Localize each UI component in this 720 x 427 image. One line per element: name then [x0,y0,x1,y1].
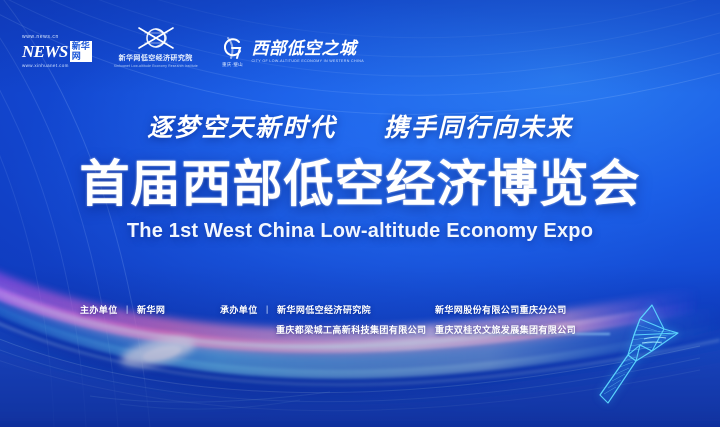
city-name-en: CITY OF LOW-ALTITUDE ECONOMY IN WESTERN … [251,59,364,63]
logo-city-of-low-altitude[interactable]: 重庆·璧山 西部低空之城 CITY OF LOW-ALTITUDE ECONOM… [219,35,364,68]
tagline-left: 逐梦空天新时代 [147,113,336,142]
xinhuanet-wordmark: NEWS 新华 网 [22,41,92,62]
coorganizer-separator: 丨 [263,303,272,316]
xinhuanet-url-bottom: www.xinhuanet.com [22,63,69,68]
logo-bar: www.news.cn NEWS 新华 网 www.xinhuanet.com [22,24,364,68]
xinhuanet-url-top: www.news.cn [22,34,59,40]
subtitle-en: The 1st West China Low-altitude Economy … [0,220,720,243]
xinhuanet-wordmark-en: NEWS [22,44,68,59]
organizer-column-coorganizer: 承办单位 丨 新华网低空经济研究院 重庆都梁城工高新科技集团有限公司 [220,303,435,336]
poster-canvas: www.news.cn NEWS 新华 网 www.xinhuanet.com [0,0,720,427]
institute-name-cn: 新华网低空经济研究院 [119,53,193,63]
logo-research-institute[interactable]: 新华网低空经济研究院 Xinhuanet Low-altitude Econom… [112,24,200,68]
support-value-1: 新华网股份有限公司重庆分公司 [435,303,650,316]
organizer-column-support: 新华网股份有限公司重庆分公司 重庆双桂农文旅发展集团有限公司 [435,303,650,336]
host-label: 主办单位 [80,303,118,316]
support-value-2: 重庆双桂农文旅发展集团有限公司 [435,323,650,336]
city-badge: 重庆·璧山 [219,35,245,68]
xinhuanet-wordmark-cn-line2: 网 [72,52,90,62]
city-badge-label: 重庆·璧山 [222,62,243,68]
city-wordmark: 西部低空之城 CITY OF LOW-ALTITUDE ECONOMY IN W… [251,40,364,63]
host-separator: 丨 [123,303,132,316]
organizer-column-host: 主办单位 丨 新华网 [70,303,220,336]
city-name-cn: 西部低空之城 [251,40,364,58]
tagline: 逐梦空天新时代 携手同行向未来 [0,108,720,144]
page-title: 首届西部低空经济博览会 [0,156,720,212]
headline-block: 逐梦空天新时代 携手同行向未来 首届西部低空经济博览会 The 1st West… [0,108,720,243]
institute-emblem-icon [133,24,179,52]
coorganizer-value-1: 新华网低空经济研究院 [277,303,371,316]
coorganizer-label: 承办单位 [220,303,258,316]
organizer-credits: 主办单位 丨 新华网 承办单位 丨 新华网低空经济研究院 重庆都梁城工高新科技集… [0,303,720,336]
logo-xinhuanet[interactable]: www.news.cn NEWS 新华 网 www.xinhuanet.com [22,34,92,68]
xinhuanet-wordmark-cn: 新华 网 [70,41,92,62]
city-g-monogram-icon [219,35,245,61]
tagline-right: 携手同行向未来 [384,113,573,142]
coorganizer-row-1: 承办单位 丨 新华网低空经济研究院 [220,303,435,316]
institute-name-en: Xinhuanet Low-altitude Economy Research … [114,64,198,68]
coorganizer-value-2: 重庆都梁城工高新科技集团有限公司 [220,323,435,336]
host-value: 新华网 [137,303,165,316]
host-row: 主办单位 丨 新华网 [80,303,220,316]
